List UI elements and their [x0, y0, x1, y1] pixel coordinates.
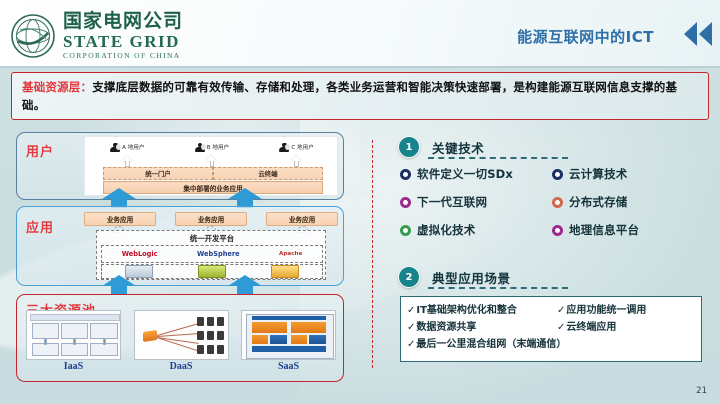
user-avatar-icon [279, 143, 289, 152]
user-label: C 地用户 [291, 143, 313, 151]
list-item: B 地用户 [195, 143, 229, 152]
app-layer-content: 业务应用 业务应用 业务应用 统一开发平台 WebLogic WebSphere… [84, 210, 338, 282]
flow-arrow-icon [102, 188, 136, 208]
pool-caption: SaaS [278, 361, 299, 372]
vendor-logo-weblogic: WebLogic [122, 250, 158, 258]
scenario-label: 应用功能统一调用 [566, 305, 646, 316]
scenario-box: ✓IT基础架构优化和整合 ✓应用功能统一调用 ✓数据资源共享 ✓云终端应用 ✓最… [400, 296, 702, 362]
list-item: ✓数据资源共享 [407, 318, 557, 333]
logo-subtitle: CORPORATION OF CHINA [63, 52, 183, 60]
scenario-label: IT基础架构优化和整合 [416, 305, 517, 316]
check-mark-icon: ✓ [407, 322, 415, 333]
callout-text: 基础资源层：支撑底层数据的可靠有效传输、存储和处理，各类业务运营和智能决策快速部… [22, 78, 700, 114]
page-title: 能源互联网中的ICT [517, 26, 654, 47]
list-item: 云计算技术 [552, 166, 708, 182]
section-1-title: 关键技术 [432, 138, 484, 157]
double-chevron-left-icon [684, 22, 712, 46]
list-item: 分布式存储 [552, 194, 708, 210]
business-app-box: 业务应用 [266, 212, 338, 226]
user-avatar-icon [110, 143, 120, 152]
logo-text-block: 国家电网公司 STATE GRID CORPORATION OF CHINA [63, 12, 183, 60]
callout-box: 基础资源层：支撑底层数据的可靠有效传输、存储和处理，各类业务运营和智能决策快速部… [11, 72, 709, 120]
tech-label: 下一代互联网 [417, 194, 487, 210]
callout-body: 支撑底层数据的可靠有效传输、存储和处理，各类业务运营和智能决策快速部署，是构建能… [22, 80, 677, 112]
list-item: ✓云终端应用 [557, 318, 697, 333]
resource-pool-items: IaaS [26, 310, 336, 378]
architecture-diagram: 用户 A 地用户 B 地用户 C 地用户 [16, 132, 344, 382]
callout-highlight: 基础资源层： [22, 80, 92, 94]
business-app-box: 业务应用 [84, 212, 156, 226]
list-item: 软件定义一切SDx [400, 166, 552, 182]
state-grid-globe-logo-icon [10, 13, 56, 59]
check-mark-icon: ✓ [557, 305, 565, 316]
platform-title: 统一开发平台 [97, 233, 327, 244]
portal-row: 统一门户 云终端 [103, 167, 323, 180]
business-app-row: 业务应用 业务应用 业务应用 [84, 212, 338, 226]
middleware-row: WebLogic WebSphere Apache [101, 245, 323, 263]
list-item: 虚拟化技术 [400, 222, 552, 238]
bullet-ring-icon [552, 197, 563, 208]
up-arrow-icon [122, 155, 133, 167]
unified-platform-box: 统一开发平台 WebLogic WebSphere Apache [96, 230, 326, 280]
tech-label: 云计算技术 [569, 166, 628, 182]
scenario-label: 最后一公里混合组网（末端通信） [416, 339, 566, 350]
portal-cell: 统一门户 [103, 167, 213, 180]
app-layer-label: 应用 [26, 217, 54, 236]
bullet-ring-icon [552, 169, 563, 180]
tech-label: 地理信息平台 [569, 222, 639, 238]
flow-arrow-icon [228, 188, 262, 208]
bullet-ring-icon [552, 225, 563, 236]
up-arrow-icon [206, 155, 217, 167]
logo-chinese-name: 国家电网公司 [63, 12, 183, 31]
page-number: 21 [696, 386, 707, 396]
list-item: ✓最后一公里混合组网（末端通信） [407, 335, 697, 350]
list-item: 下一代互联网 [400, 194, 552, 210]
saas-stack-diagram-icon [241, 310, 336, 360]
check-mark-icon: ✓ [407, 339, 415, 350]
vendor-logo-websphere: WebSphere [197, 250, 240, 258]
section-1-badge: 1 [398, 136, 420, 158]
tech-label: 软件定义一切SDx [417, 166, 513, 182]
check-mark-icon: ✓ [557, 322, 565, 333]
header-divider [0, 66, 720, 68]
flow-arrow-icon [102, 275, 136, 295]
vendor-logo-apache: Apache [279, 251, 302, 257]
user-layer-content: A 地用户 B 地用户 C 地用户 统一门户 云终端 集中 [84, 136, 338, 196]
pool-caption: IaaS [64, 361, 83, 372]
section-1-rule [428, 157, 568, 159]
linux-icon [198, 265, 226, 278]
business-app-box: 业务应用 [175, 212, 247, 226]
logo-english-name: STATE GRID [63, 33, 183, 50]
list-item: 地理信息平台 [552, 222, 708, 238]
up-arrow-icon [291, 155, 302, 167]
slide-header: 国家电网公司 STATE GRID CORPORATION OF CHINA 能… [0, 0, 720, 68]
section-2-title: 典型应用场景 [432, 268, 511, 287]
user-label: A 地用户 [122, 143, 144, 151]
section-1-header: 1 关键技术 [398, 136, 710, 160]
daas-network-diagram-icon [134, 310, 229, 360]
app-icon [271, 265, 299, 278]
scenario-list: ✓IT基础架构优化和整合 ✓应用功能统一调用 ✓数据资源共享 ✓云终端应用 ✓最… [407, 301, 701, 350]
tech-label: 分布式存储 [569, 194, 628, 210]
list-item: C 地用户 [279, 143, 313, 152]
right-panel: 1 关键技术 软件定义一切SDx 云计算技术 下一代互联网 分布式存储 [398, 136, 710, 374]
key-technology-list: 软件定义一切SDx 云计算技术 下一代互联网 分布式存储 虚拟化技术 地理信息平… [400, 166, 708, 238]
bullet-ring-icon [400, 197, 411, 208]
vertical-divider [372, 140, 373, 368]
user-uplink-arrows [85, 154, 339, 167]
user-label: B 地用户 [207, 143, 229, 151]
iaas-architecture-diagram-icon [26, 310, 121, 360]
list-item: DaaS [134, 310, 229, 372]
list-item: A 地用户 [110, 143, 144, 152]
central-app-box: 集中部署的业务应用 [103, 181, 323, 194]
check-mark-icon: ✓ [407, 305, 415, 316]
list-item: IaaS [26, 310, 121, 372]
user-avatar-icon [195, 143, 205, 152]
section-2-wrapper: 2 典型应用场景 ✓IT基础架构优化和整合 ✓应用功能统一调用 ✓数据资源共享 … [398, 266, 710, 290]
bullet-ring-icon [400, 169, 411, 180]
scenario-label: 数据资源共享 [416, 322, 476, 333]
scenario-label: 云终端应用 [566, 322, 616, 333]
tech-label: 虚拟化技术 [417, 222, 476, 238]
user-list: A 地用户 B 地用户 C 地用户 [85, 139, 339, 155]
slide: 国家电网公司 STATE GRID CORPORATION OF CHINA 能… [0, 0, 720, 404]
list-item: ✓IT基础架构优化和整合 [407, 301, 557, 316]
section-2-rule [428, 287, 568, 289]
list-item: ✓应用功能统一调用 [557, 301, 697, 316]
bullet-ring-icon [400, 225, 411, 236]
user-layer-label: 用户 [26, 141, 54, 160]
section-2-header: 2 典型应用场景 [398, 266, 710, 290]
pool-caption: DaaS [170, 361, 193, 372]
state-grid-logo: 国家电网公司 STATE GRID CORPORATION OF CHINA [10, 12, 183, 60]
flow-arrow-icon [228, 275, 262, 295]
list-item: SaaS [241, 310, 336, 372]
portal-cell: 云终端 [213, 167, 323, 180]
section-2-badge: 2 [398, 266, 420, 288]
